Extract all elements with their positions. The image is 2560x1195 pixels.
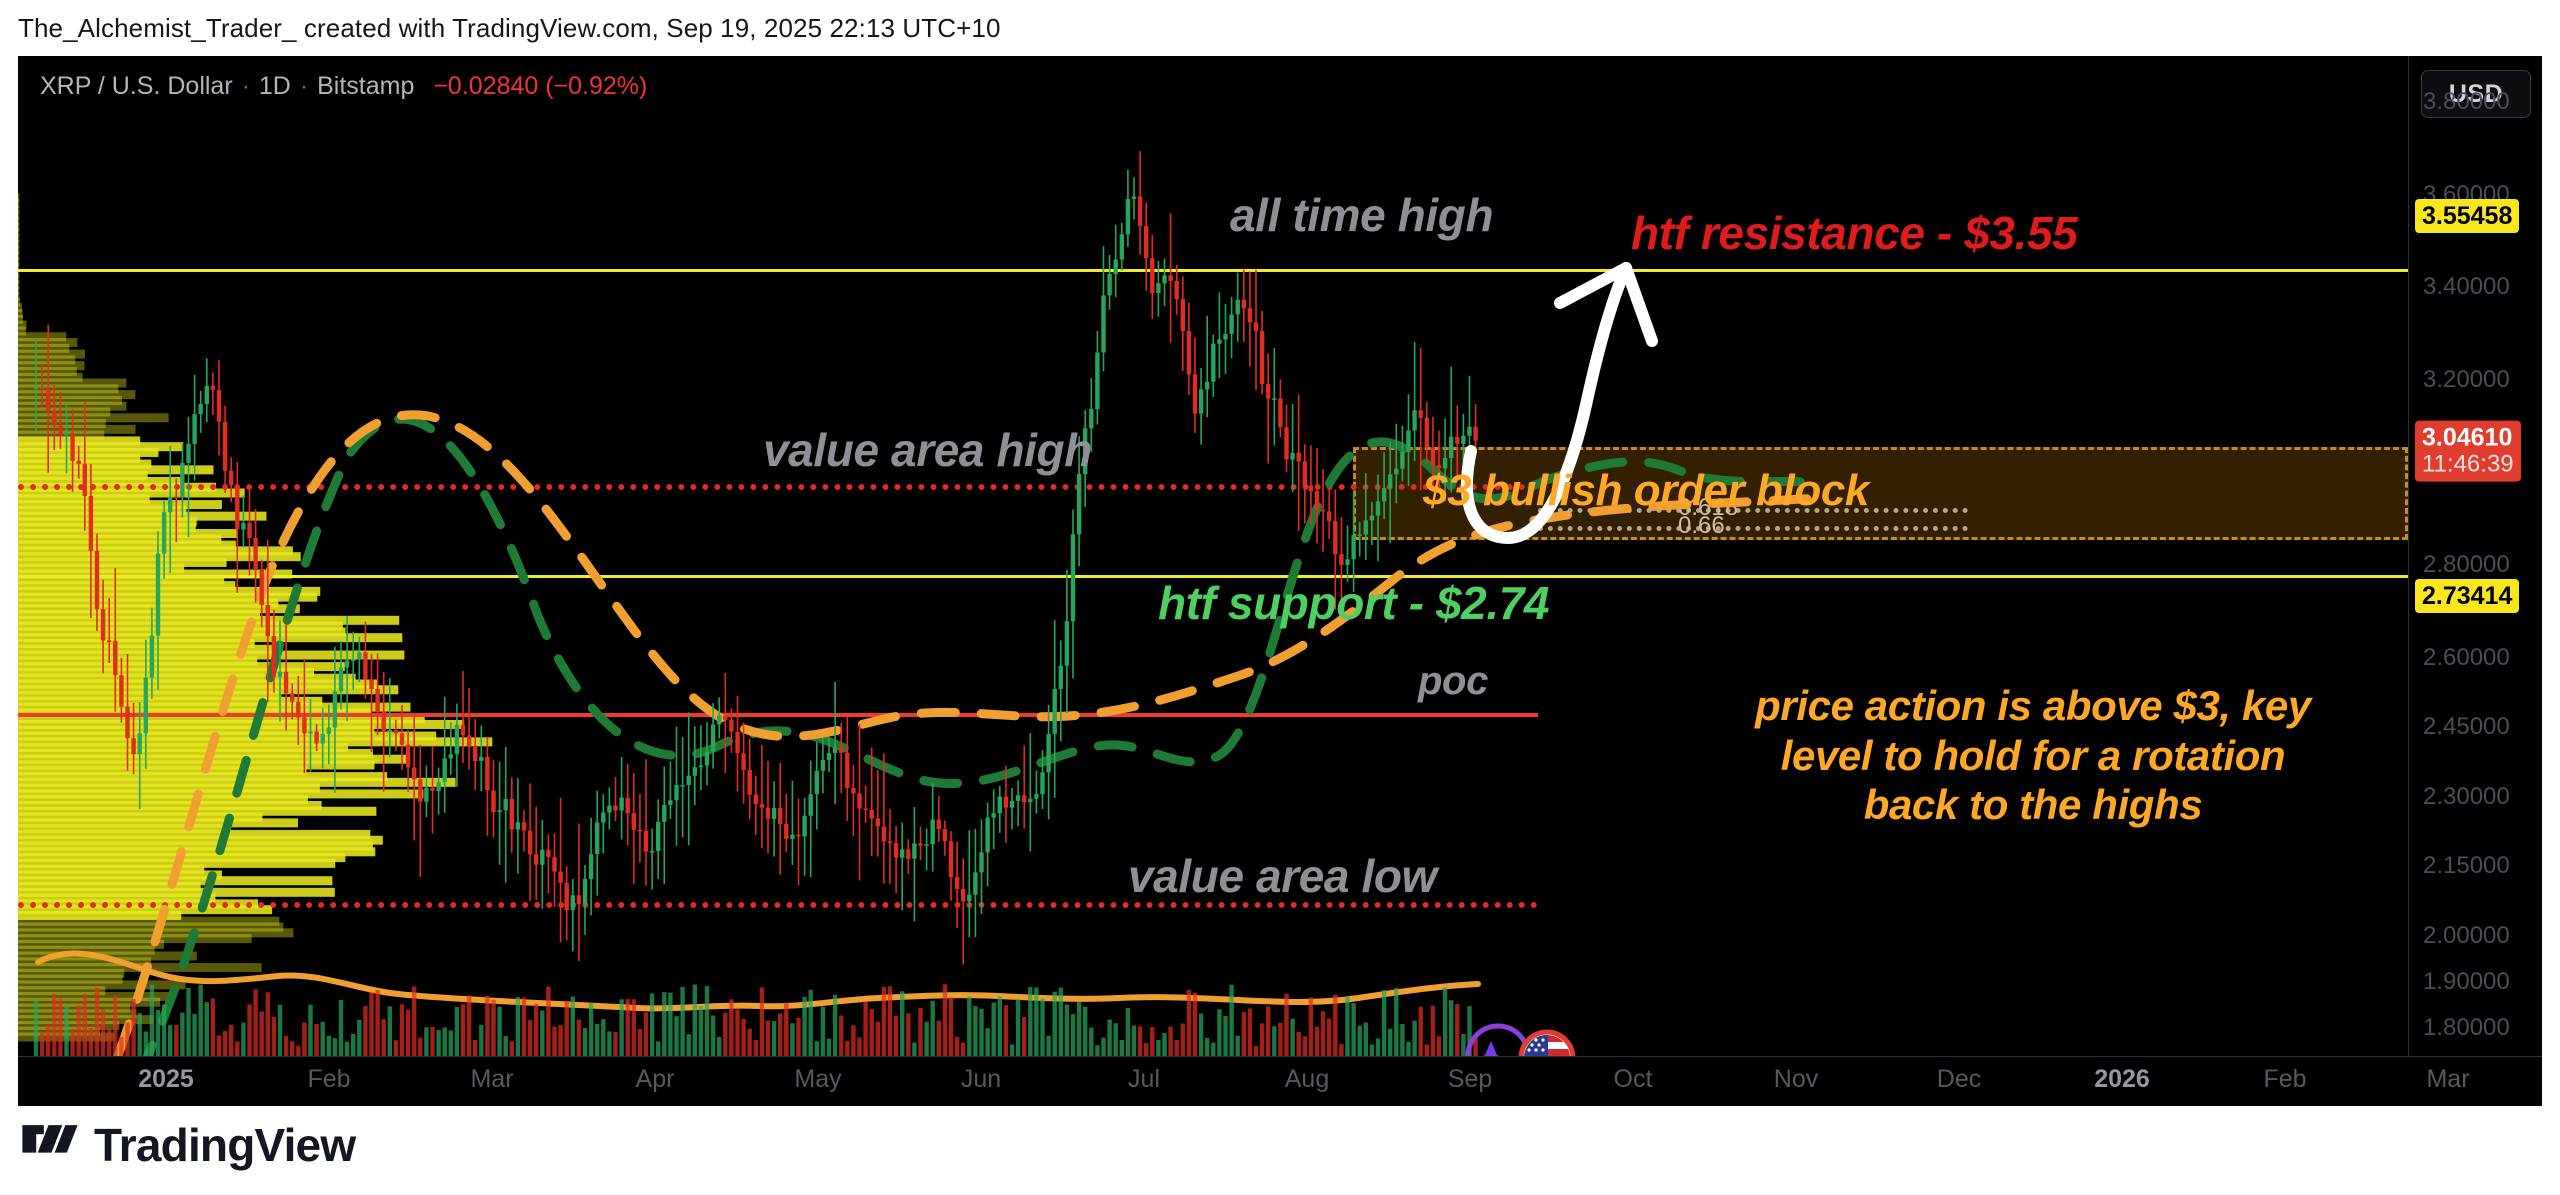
legend-sep-2: ·: [298, 72, 310, 100]
time-tick: Mar: [2426, 1065, 2469, 1094]
time-tick: 2025: [138, 1065, 194, 1094]
price-tick: 1.90000: [2423, 968, 2510, 996]
legend-exchange[interactable]: Bitstamp: [317, 72, 414, 100]
legend-change: −0.02840 (−0.92%): [421, 72, 647, 100]
price-tick: 3.40000: [2423, 273, 2510, 301]
time-tick: Feb: [2263, 1065, 2306, 1094]
event-icons[interactable]: [18, 56, 2408, 1056]
time-scale[interactable]: 2025FebMarAprMayJunJulAugSepOctNovDec202…: [18, 1056, 2542, 1107]
price-tick: 2.30000: [2423, 783, 2510, 811]
price-scale[interactable]: USD 3.800003.600003.400003.200002.800002…: [2408, 56, 2542, 1056]
price-tick: 2.60000: [2423, 644, 2510, 672]
time-tick: Aug: [1285, 1065, 1329, 1094]
time-tick: Dec: [1937, 1065, 1981, 1094]
tradingview-mark-icon: [22, 1122, 78, 1168]
attribution-text: The_Alchemist_Trader_ created with Tradi…: [18, 13, 1001, 43]
price-tick: 2.00000: [2423, 922, 2510, 950]
time-tick: Apr: [636, 1065, 675, 1094]
time-tick: Nov: [1774, 1065, 1818, 1094]
price-tick: 3.20000: [2423, 366, 2510, 394]
time-tick: Sep: [1448, 1065, 1492, 1094]
chart-container[interactable]: 0.618 0.66: [18, 56, 2542, 1056]
price-tick: 2.45000: [2423, 713, 2510, 741]
legend-interval[interactable]: 1D: [259, 72, 291, 100]
price-tick: 3.80000: [2423, 88, 2510, 116]
chart-legend[interactable]: XRP / U.S. Dollar · 1D · Bitstamp −0.028…: [40, 72, 647, 106]
time-tick: Feb: [307, 1065, 350, 1094]
time-tick: Mar: [470, 1065, 513, 1094]
price-badge-last[interactable]: 3.0461011:46:39: [2415, 421, 2521, 482]
time-tick: 2026: [2094, 1065, 2150, 1094]
time-tick: Jun: [961, 1065, 1001, 1094]
tradingview-logo[interactable]: TradingView: [22, 1118, 355, 1172]
price-badge-support[interactable]: 2.73414: [2415, 579, 2519, 613]
tradingview-wordmark: TradingView: [94, 1118, 355, 1172]
sparkle-icon[interactable]: [1468, 1026, 1528, 1056]
legend-symbol[interactable]: XRP / U.S. Dollar: [40, 72, 233, 100]
time-tick: May: [794, 1065, 841, 1094]
time-tick: Jul: [1128, 1065, 1160, 1094]
us-flag-icon[interactable]: [1521, 1032, 1573, 1056]
plot-area[interactable]: 0.618 0.66: [18, 56, 2408, 1056]
price-tick: 2.15000: [2423, 852, 2510, 880]
footer: TradingView: [0, 1106, 2560, 1195]
time-tick: Oct: [1614, 1065, 1653, 1094]
price-tick: 2.80000: [2423, 551, 2510, 579]
price-badge-resistance[interactable]: 3.55458: [2415, 199, 2519, 233]
legend-sep-1: ·: [240, 72, 252, 100]
price-tick: 1.80000: [2423, 1014, 2510, 1042]
attribution-bar: The_Alchemist_Trader_ created with Tradi…: [0, 0, 2560, 56]
